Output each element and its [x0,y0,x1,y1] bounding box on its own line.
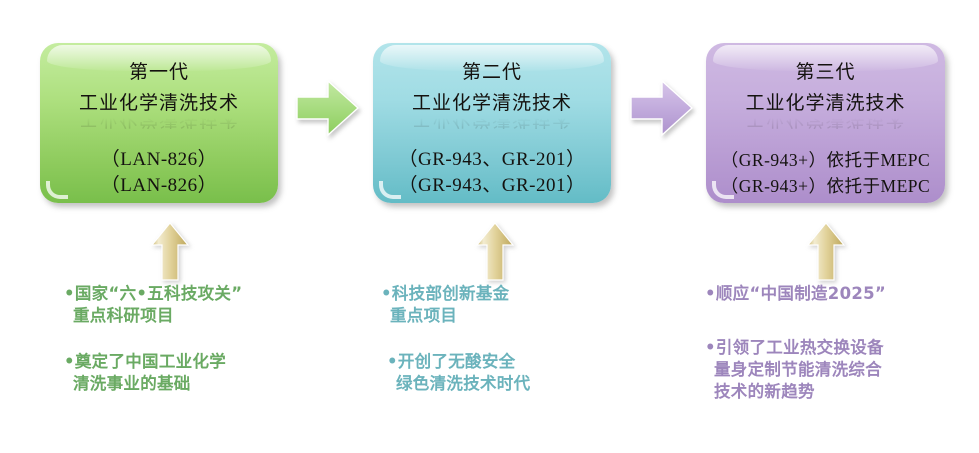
generation-box-2-subtitle-line: 工业化学清洗技术 工业化学清洗技术 [373,88,611,119]
generation-box-3-content: 第三代 工业化学清洗技术 工业化学清洗技术 （GR-943+）依托于MEPC （… [706,43,945,203]
arrow-gen1-to-gen2-icon [295,77,361,139]
generation-box-1[interactable]: 第一代 工业化学清洗技术 工业化学清洗技术 （LAN-826） （LAN-826… [40,43,278,203]
bullet-line: •奠定了中国工业化学 [64,351,242,373]
generation-3-code-reflection: （GR-943+）依托于MEPC [721,179,930,196]
generation-box-3-subtitle-line: 工业化学清洗技术 工业化学清洗技术 [706,88,945,119]
bullet-item: •引领了工业热交换设备 量身定制节能清洗综合 技术的新趋势 [705,337,886,403]
bullet-list-gen2: •科技部创新基金 重点项目 •开创了无酸安全 绿色清洗技术时代 [381,283,530,395]
diagram-canvas: 第一代 工业化学清洗技术 工业化学清洗技术 （LAN-826） （LAN-826… [0,0,979,453]
generation-box-3[interactable]: 第三代 工业化学清洗技术 工业化学清洗技术 （GR-943+）依托于MEPC （… [706,43,945,203]
bullet-line: 重点科研项目 [64,305,242,327]
generation-box-2-title-line: 第二代 [373,57,611,88]
generation-box-2-code-line: （GR-943、GR-201） （GR-943、GR-201） [373,147,611,199]
bullet-line: •引领了工业热交换设备 [705,337,886,359]
generation-box-3-title-line: 第三代 [706,57,945,88]
up-arrow-gen1-icon [149,221,191,283]
bullet-item: •奠定了中国工业化学 清洗事业的基础 [64,351,242,395]
bullet-line: 清洗事业的基础 [64,373,242,395]
generation-1-title: 第一代 [129,62,189,83]
bullet-item: •顺应“中国制造2025” [705,283,886,305]
bullet-item: •科技部创新基金 重点项目 [381,283,530,327]
generation-1-subtitle-reflection: 工业化学清洗技术 [40,118,278,134]
generation-3-code: （GR-943+）依托于MEPC [706,147,945,173]
generation-3-title: 第三代 [795,62,855,83]
generation-2-code: （GR-943、GR-201） [373,147,611,173]
generation-box-1-subtitle-line: 工业化学清洗技术 工业化学清洗技术 [40,88,278,119]
generation-3-subtitle: 工业化学清洗技术 [745,93,905,114]
generation-box-2[interactable]: 第二代 工业化学清洗技术 工业化学清洗技术 （GR-943、GR-201） （G… [373,43,611,203]
bullet-line: •开创了无酸安全 [387,351,530,373]
generation-box-1-code-line: （LAN-826） （LAN-826） [40,147,278,199]
bullet-item: •开创了无酸安全 绿色清洗技术时代 [381,351,530,395]
generation-box-2-content: 第二代 工业化学清洗技术 工业化学清洗技术 （GR-943、GR-201） （G… [373,43,611,203]
generation-box-1-content: 第一代 工业化学清洗技术 工业化学清洗技术 （LAN-826） （LAN-826… [40,43,278,203]
bullet-line: •顺应“中国制造2025” [705,283,886,305]
generation-box-3-code-line: （GR-943+）依托于MEPC （GR-943+）依托于MEPC [706,147,945,199]
generation-2-title: 第二代 [462,62,522,83]
generation-1-code: （LAN-826） [40,147,278,173]
generation-2-code-reflection: （GR-943、GR-201） [399,178,586,195]
bullet-line: 技术的新趋势 [705,381,886,403]
arrow-gen2-to-gen3-icon [629,77,695,139]
bullet-line: •科技部创新基金 [381,283,530,305]
bullet-line: 重点项目 [381,305,530,327]
bullet-item: •国家“六•五科技攻关” 重点科研项目 [64,283,242,327]
bullet-line: 绿色清洗技术时代 [387,373,530,395]
bullet-list-gen3: •顺应“中国制造2025” •引领了工业热交换设备 量身定制节能清洗综合 技术的… [705,283,886,403]
up-arrow-gen2-icon [474,221,516,283]
bullet-line: •国家“六•五科技攻关” [64,283,242,305]
bullet-list-gen1: •国家“六•五科技攻关” 重点科研项目 •奠定了中国工业化学 清洗事业的基础 [64,283,242,395]
generation-2-subtitle-reflection: 工业化学清洗技术 [373,118,611,134]
generation-2-subtitle: 工业化学清洗技术 [412,93,572,114]
generation-3-subtitle-reflection: 工业化学清洗技术 [706,118,945,134]
generation-1-subtitle: 工业化学清洗技术 [79,93,239,114]
generation-1-code-reflection: （LAN-826） [101,178,217,195]
up-arrow-gen3-icon [805,221,847,283]
bullet-line: 量身定制节能清洗综合 [705,359,886,381]
generation-box-1-title-line: 第一代 [40,57,278,88]
